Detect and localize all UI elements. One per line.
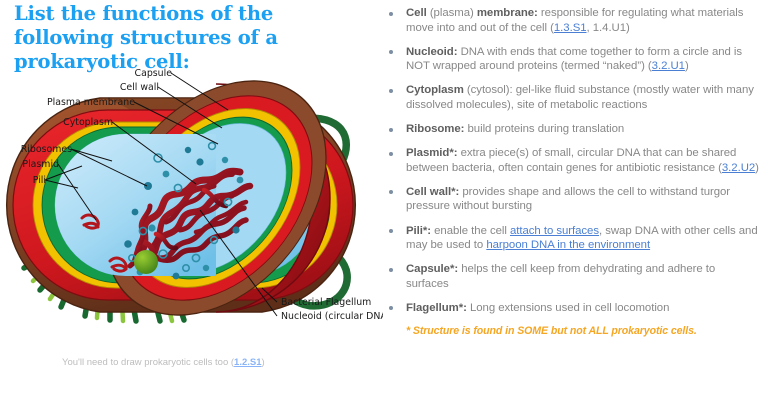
list-item: Cell (plasma) membrane: responsible for … <box>383 6 760 35</box>
label-pili: Pili <box>33 175 46 186</box>
term-label: Nucleoid: <box>406 46 457 58</box>
label-nucleoid: Nucleoid (circular DNA) <box>281 311 383 322</box>
left-column: List the functions of the following stru… <box>0 0 383 410</box>
reference-link[interactable]: harpoon DNA in the environment <box>486 239 650 251</box>
term-label: Pili*: <box>406 225 431 237</box>
label-flagellum: Bacterial Flagellum <box>281 297 371 308</box>
term-label: membrane: <box>477 7 538 19</box>
description-text: , 1.4.U1) <box>587 22 630 34</box>
draw-note-text-after: ) <box>262 357 265 368</box>
label-ribosomes: Ribosomes <box>21 144 72 155</box>
list-item: Cell wall*: provides shape and allows th… <box>383 185 760 214</box>
description-text: ) <box>755 162 759 174</box>
description-text: Long extensions used in cell locomotion <box>467 302 670 314</box>
draw-prokaryotic-note: You'll need to draw prokaryotic cells to… <box>62 357 265 368</box>
slide-root: List the functions of the following stru… <box>0 0 768 410</box>
term-label: Ribosome: <box>406 123 464 135</box>
description-text: DNA with ends that come together to form… <box>406 46 742 73</box>
list-item: Plasmid*: extra piece(s) of small, circu… <box>383 146 760 175</box>
term-label: Plasmid*: <box>406 147 457 159</box>
term-label: Cell <box>406 7 427 19</box>
list-item: Nucleoid: DNA with ends that come togeth… <box>383 45 760 74</box>
reference-link[interactable]: attach to surfaces <box>510 225 599 237</box>
list-item: Flagellum*: Long extensions used in cell… <box>383 301 760 316</box>
description-text: enable the cell <box>431 225 510 237</box>
list-item: Capsule*: helps the cell keep from dehyd… <box>383 262 760 291</box>
storage-granule <box>134 250 158 274</box>
label-plasma-membrane: Plasma membrane <box>47 97 135 108</box>
prokaryotic-cell-diagram: Capsule Cell wall Plasma membrane Cytopl… <box>0 62 383 352</box>
list-item: Ribosome: build proteins during translat… <box>383 122 760 137</box>
label-plasmid: Plasmid <box>22 159 59 170</box>
label-cytoplasm: Cytoplasm <box>63 117 113 128</box>
label-capsule: Capsule <box>135 68 173 79</box>
term-label: Flagellum*: <box>406 302 467 314</box>
description-text: build proteins during translation <box>464 123 624 135</box>
reference-link[interactable]: 3.2.U1 <box>652 60 685 72</box>
term-label: Cell wall*: <box>406 186 459 198</box>
term-label: Capsule*: <box>406 263 458 275</box>
asterisk-footnote: * Structure is found in SOME but not ALL… <box>383 324 760 338</box>
list-item: Cytoplasm (cytosol): gel-like fluid subs… <box>383 83 760 112</box>
draw-note-link[interactable]: 1.2.S1 <box>234 357 261 368</box>
term-label: Cytoplasm <box>406 84 464 96</box>
reference-link[interactable]: 3.2.U2 <box>722 162 755 174</box>
function-list: Cell (plasma) membrane: responsible for … <box>383 6 760 316</box>
reference-link[interactable]: 1.3.S1 <box>554 22 587 34</box>
right-column: Cell (plasma) membrane: responsible for … <box>383 0 768 410</box>
list-item: Pili*: enable the cell attach to surface… <box>383 224 760 253</box>
description-text: ) <box>685 60 689 72</box>
description-text: (plasma) <box>427 7 477 19</box>
draw-note-text-before: You'll need to draw prokaryotic cells to… <box>62 357 234 368</box>
label-cell-wall: Cell wall <box>120 82 159 93</box>
